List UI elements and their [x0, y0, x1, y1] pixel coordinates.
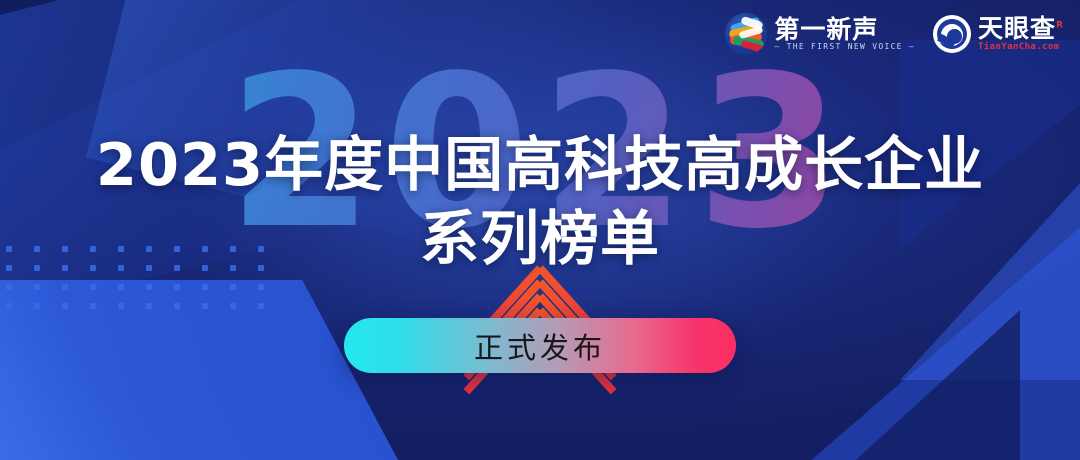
grid-dot: [202, 284, 208, 290]
release-status-pill[interactable]: 正式发布: [344, 318, 736, 373]
grid-dot: [34, 303, 40, 309]
headline-block: 2023年度中国高科技高成长企业 系列榜单: [0, 131, 1080, 273]
tianyancha-domain: TianYanCha.com: [978, 43, 1064, 52]
grid-dot: [230, 303, 236, 309]
tianyancha-text: 天眼查R TianYanCha.com: [978, 16, 1064, 52]
registered-trademark-icon: R: [1056, 21, 1064, 31]
grid-dot: [62, 284, 68, 290]
grid-dot: [6, 303, 12, 309]
headline-line-1: 2023年度中国高科技高成长企业: [0, 131, 1080, 199]
grid-dot: [202, 303, 208, 309]
grid-dot: [62, 303, 68, 309]
swirl-globe-icon: [725, 13, 767, 55]
aperture-eye-icon: [933, 15, 971, 53]
grid-dot: [258, 284, 264, 290]
grid-dot: [90, 303, 96, 309]
tianyancha-logo[interactable]: 天眼查R TianYanCha.com: [933, 15, 1064, 53]
grid-dot: [230, 284, 236, 290]
first-new-voice-name: 第一新声: [774, 17, 915, 42]
first-new-voice-text: 第一新声 — THE FIRST NEW VOICE —: [774, 17, 915, 51]
logo-bar: 第一新声 — THE FIRST NEW VOICE — 天眼查R TianYa…: [725, 13, 1064, 55]
promo-banner: 2023 2023年度中国高科技高成长企业 系列榜单 正式发布 第: [0, 0, 1080, 460]
first-new-voice-tagline: — THE FIRST NEW VOICE —: [774, 43, 915, 51]
tianyancha-name: 天眼查R: [978, 16, 1064, 41]
grid-dot: [118, 284, 124, 290]
grid-dot: [174, 303, 180, 309]
first-new-voice-logo[interactable]: 第一新声 — THE FIRST NEW VOICE —: [725, 13, 915, 55]
grid-dot: [146, 303, 152, 309]
grid-dot: [146, 284, 152, 290]
grid-dot: [90, 284, 96, 290]
headline-line-2: 系列榜单: [0, 205, 1080, 273]
tianyancha-name-cn: 天眼查: [978, 14, 1056, 43]
release-status-label: 正式发布: [474, 325, 606, 367]
grid-dot: [34, 284, 40, 290]
triangle-right-lower: [790, 310, 1020, 460]
grid-dot: [6, 284, 12, 290]
grid-dot: [258, 303, 264, 309]
grid-dot: [118, 303, 124, 309]
grid-dot: [174, 284, 180, 290]
